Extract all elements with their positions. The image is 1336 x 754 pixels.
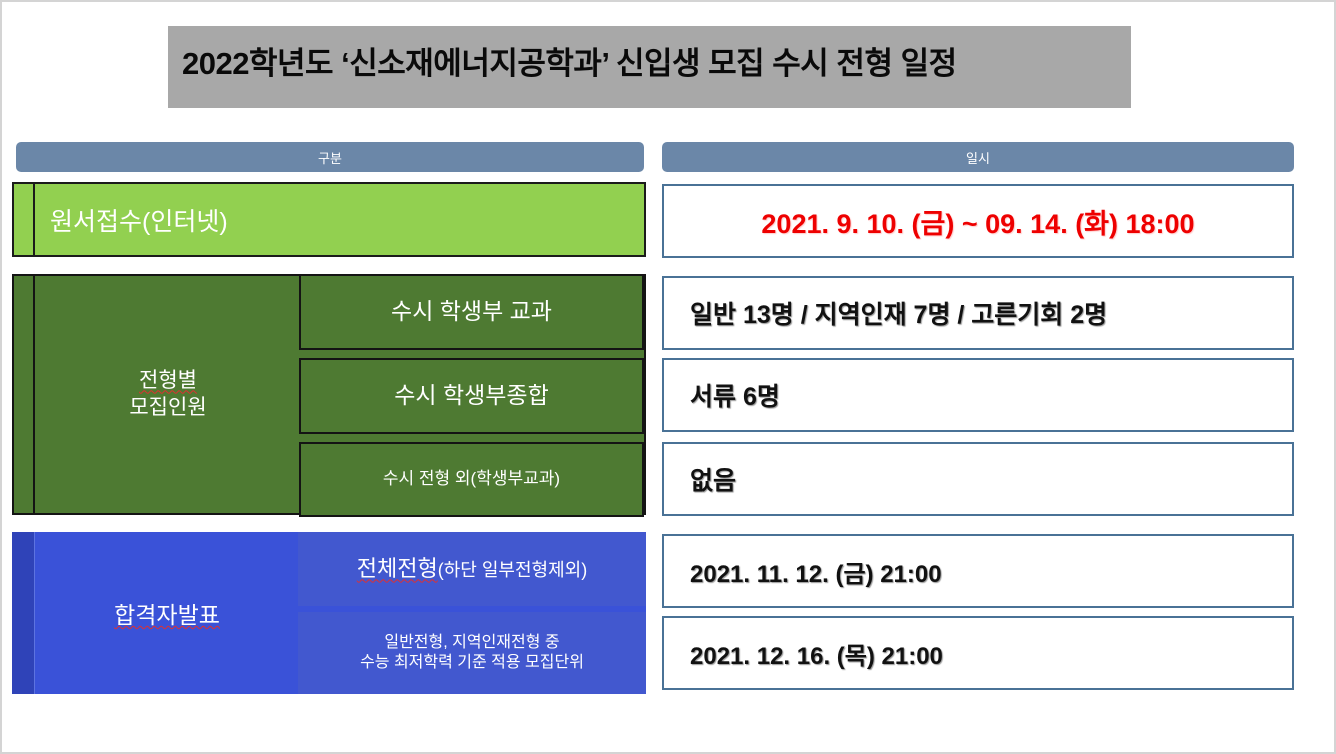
result-label-text: 합격자발표 (114, 596, 220, 630)
quota-subcell-susi-jonghap: 수시 학생부종합 (299, 358, 644, 434)
quota-subcell-2-spell: 학생부종합 (443, 382, 549, 408)
quota-value-non-susi: 없음 (662, 442, 1294, 516)
result-value-all-types: 2021. 11. 12. (금) 21:00 (662, 534, 1294, 608)
quota-subcell-3-prefix: 수시 전형 외( (383, 469, 476, 488)
result-subcell-1-label: 전체전형(하단 일부전형제외) (357, 555, 587, 583)
accent-stripe (14, 184, 35, 255)
accent-stripe (12, 532, 35, 694)
application-period-text: 2021. 9. 10. (금) ~ 09. 14. (화) 18:00 (761, 202, 1194, 241)
quota-subcell-3-label: 수시 전형 외(학생부교과) (383, 469, 560, 489)
quota-subcell-2-prefix: 수시 (394, 382, 443, 408)
result-subcell-min-score: 일반전형, 지역인재전형 중 수능 최저학력 기준 적용 모집단위 (298, 612, 646, 694)
row-quota-category: 전형별 모집인원 수시 학생부 교과 수시 학생부종합 수시 전형 외(학생부교… (12, 274, 646, 515)
quota-label-line1: 전형별 (139, 369, 197, 392)
quota-value-susi-gyogwa: 일반 13명 / 지역인재 7명 / 고른기회 2명 (662, 276, 1294, 350)
column-header-category-label: 구분 (318, 148, 342, 167)
result-value-min-score: 2021. 12. 16. (목) 21:00 (662, 616, 1294, 690)
quota-label-line2: 모집인원 (129, 396, 206, 419)
quota-value-1-text: 일반 13명 / 지역인재 7명 / 고른기회 2명 (690, 295, 1107, 331)
page-title: 2022학년도 ‘신소재에너지공학과’ 신입생 모집 수시 전형 일정 (182, 38, 1122, 83)
result-subcell-2-label: 일반전형, 지역인재전형 중 수능 최저학력 기준 적용 모집단위 (360, 633, 584, 673)
slide-canvas: 2022학년도 ‘신소재에너지공학과’ 신입생 모집 수시 전형 일정 구분 일… (0, 0, 1336, 754)
column-header-date-label: 일시 (966, 148, 990, 167)
row-quota-label: 전형별 모집인원 (37, 276, 299, 513)
result-subcell-all-types: 전체전형(하단 일부전형제외) (298, 532, 646, 606)
quota-value-2-text: 서류 6명 (690, 377, 780, 413)
result-value-1-text: 2021. 11. 12. (금) 21:00 (690, 554, 942, 589)
column-header-date: 일시 (662, 142, 1294, 172)
result-subcell-2-line2: 수능 최저학력 기준 적용 모집단위 (360, 654, 584, 671)
quota-subcell-2-label: 수시 학생부종합 (394, 382, 549, 410)
title-banner: 2022학년도 ‘신소재에너지공학과’ 신입생 모집 수시 전형 일정 (168, 26, 1131, 108)
row-application-category: 원서접수(인터넷) (12, 182, 646, 257)
quota-subcell-3-suffix: ) (554, 469, 560, 488)
quota-subcell-non-susi: 수시 전형 외(학생부교과) (299, 442, 644, 517)
row-application-value: 2021. 9. 10. (금) ~ 09. 14. (화) 18:00 (662, 184, 1294, 258)
quota-subcell-3-spell: 학생부교과 (476, 469, 554, 488)
row-application-label: 원서접수(인터넷) (50, 202, 228, 238)
quota-value-susi-jonghap: 서류 6명 (662, 358, 1294, 432)
result-subcell-1-spell: 전체전형 (357, 556, 438, 581)
row-result-category: 합격자발표 전체전형(하단 일부전형제외) 일반전형, 지역인재전형 중 수능 … (12, 532, 646, 694)
quota-value-3-text: 없음 (690, 461, 736, 497)
result-value-2-text: 2021. 12. 16. (목) 21:00 (690, 636, 943, 671)
quota-subcell-1-label: 수시 학생부 교과 (391, 298, 552, 326)
accent-stripe (14, 276, 35, 513)
result-subcell-2-line1: 일반전형, 지역인재전형 중 (384, 634, 559, 651)
row-result-label: 합격자발표 (36, 532, 298, 694)
quota-subcell-susi-gyogwa: 수시 학생부 교과 (299, 274, 644, 350)
result-subcell-1-suffix: (하단 일부전형제외) (438, 560, 587, 580)
column-header-category: 구분 (16, 142, 644, 172)
